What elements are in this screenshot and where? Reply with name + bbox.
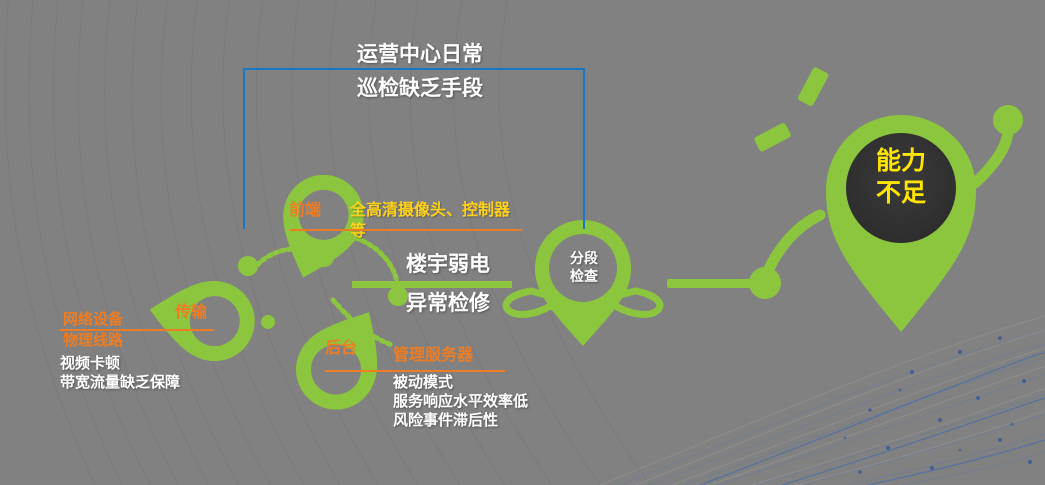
front-end-annotation-line1: 全高清摄像头、控制器 [350,201,510,221]
center-title-line1: 楼宇弱电 [406,252,490,278]
transmission-issue-1: 视频卡顿 [60,355,120,374]
slide-canvas: 运营中心日常 巡检缺乏手段 楼宇弱电 异常检修 前端 传输 后台 分段 检查 能… [0,0,1045,485]
pin-label-backend: 后台 [325,339,357,359]
pin-label-segmented-line1: 分段 [563,250,605,268]
transmission-underline [60,329,214,331]
front-end-annotation-line2: 等 [350,222,366,242]
pin-label-front-end: 前端 [289,201,321,221]
backend-underline [325,370,505,372]
pin-label-capability-line2: 不足 [863,178,939,209]
spark-dash-1 [797,66,829,107]
front-end-underline [290,229,522,231]
backend-annotation-title: 管理服务器 [393,346,473,366]
transmission-annotation-line1: 网络设备 [63,311,123,330]
center-divider-bar [352,281,512,288]
center-title-line2: 异常检修 [406,291,490,317]
pin-label-segmented-line2: 检查 [563,268,605,286]
pin-label-capability-line1: 能力 [863,146,939,177]
pin-label-transmission: 传输 [175,303,207,323]
spark-dash-2 [753,122,791,153]
top-title-line1: 运营中心日常 [357,42,483,68]
connector-bar-right [667,279,755,288]
transmission-annotation-line2: 物理线路 [63,332,123,351]
backend-issue-1: 被动模式 [393,374,453,393]
transmission-issue-2: 带宽流量缺乏保障 [60,374,180,393]
backend-issue-2: 服务响应水平效率低 [393,393,528,412]
backend-issue-3: 风险事件滞后性 [393,412,498,431]
top-title-line2: 巡检缺乏手段 [357,76,483,102]
